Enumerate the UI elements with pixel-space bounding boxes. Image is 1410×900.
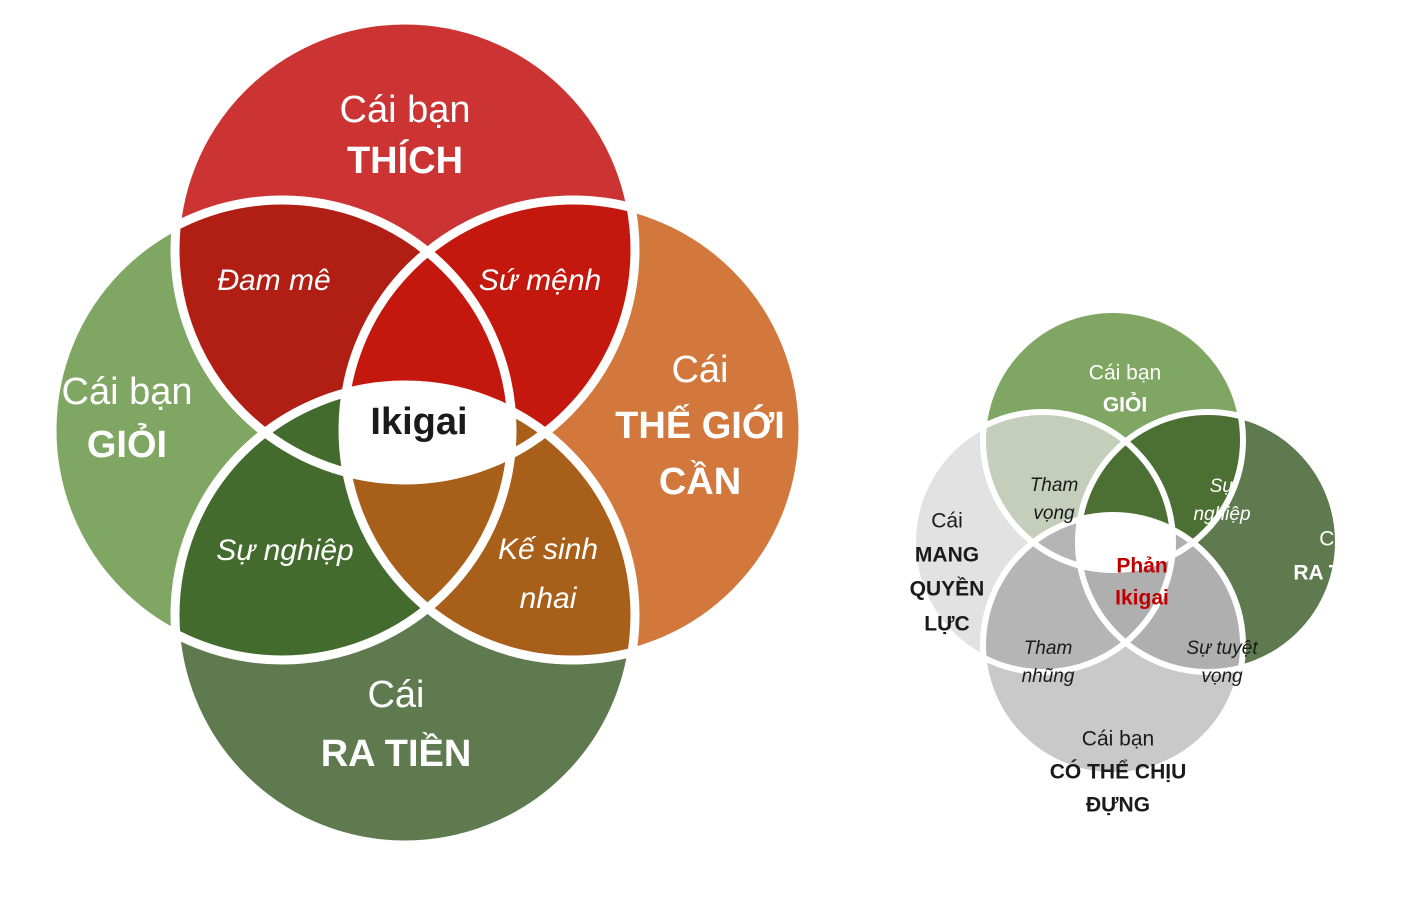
anti-label-good-at-line1: Cái bạn [1089,362,1161,385]
label-world-needs-line2: THẾ GIỚI [615,403,785,447]
anti-label-corruption-line2: nhũng [1022,666,1075,687]
label-good-at-line2: GIỎI [87,422,167,466]
label-you-love-line2: THÍCH [347,138,463,182]
label-paid-for-line1: Cái [367,674,424,716]
anti-label-endure-line3: ĐỰNG [1086,794,1150,817]
anti-label-power-line3: QUYỀN [910,578,985,601]
anti-label-power-line4: LỰC [924,613,969,636]
anti-label-ambition-line1: Tham [1030,475,1079,496]
anti-label-endure-line2: CÓ THỂ CHỊU [1050,760,1187,784]
anti-label-paid-line1: Cái [1319,528,1351,551]
label-profession-line2: nhai [520,582,578,615]
anti-ikigai-diagram: Cái bạn GIỎI Cái MANG QUYỀN LỰC Cái RA T… [870,300,1410,900]
label-mission: Sứ mệnh [479,264,601,297]
ikigai-diagram: Cái bạn THÍCH Cái bạn GIỎI Cái THẾ GIỚI … [0,0,860,856]
label-good-at-line1: Cái bạn [62,371,193,413]
anti-label-center-line2: Ikigai [1115,587,1169,610]
label-world-needs-line1: Cái [671,349,728,391]
anti-label-despair-line2: vọng [1201,666,1243,687]
label-vocation: Sự nghiệp [216,534,353,567]
label-profession-line1: Kế sinh [498,533,598,566]
anti-label-career-line2: nghiệp [1193,504,1250,525]
label-you-love-line1: Cái bạn [340,89,471,131]
anti-label-career-line1: Sự [1210,476,1237,497]
anti-label-despair-line1: Sự tuyệt [1186,638,1258,659]
ikigai-venn-illustration: Cái bạn THÍCH Cái bạn GIỎI Cái THẾ GIỚI … [0,0,1410,856]
label-world-needs-line3: CẦN [659,459,741,503]
anti-label-power-line1: Cái [931,510,963,533]
anti-label-corruption-line1: Tham [1024,638,1073,659]
anti-label-endure-line1: Cái bạn [1082,728,1154,751]
anti-label-good-at-line2: GIỎI [1103,393,1147,417]
anti-label-power-line2: MANG [915,544,979,567]
label-ikigai-center: Ikigai [370,401,467,443]
label-paid-for-line2: RA TIỀN [321,731,472,775]
label-passion: Đam mê [217,264,330,297]
anti-label-paid-line2: RA TIỀN [1293,562,1376,585]
anti-label-center-line1: Phản [1116,555,1167,578]
anti-label-ambition-line2: vọng [1033,503,1075,524]
